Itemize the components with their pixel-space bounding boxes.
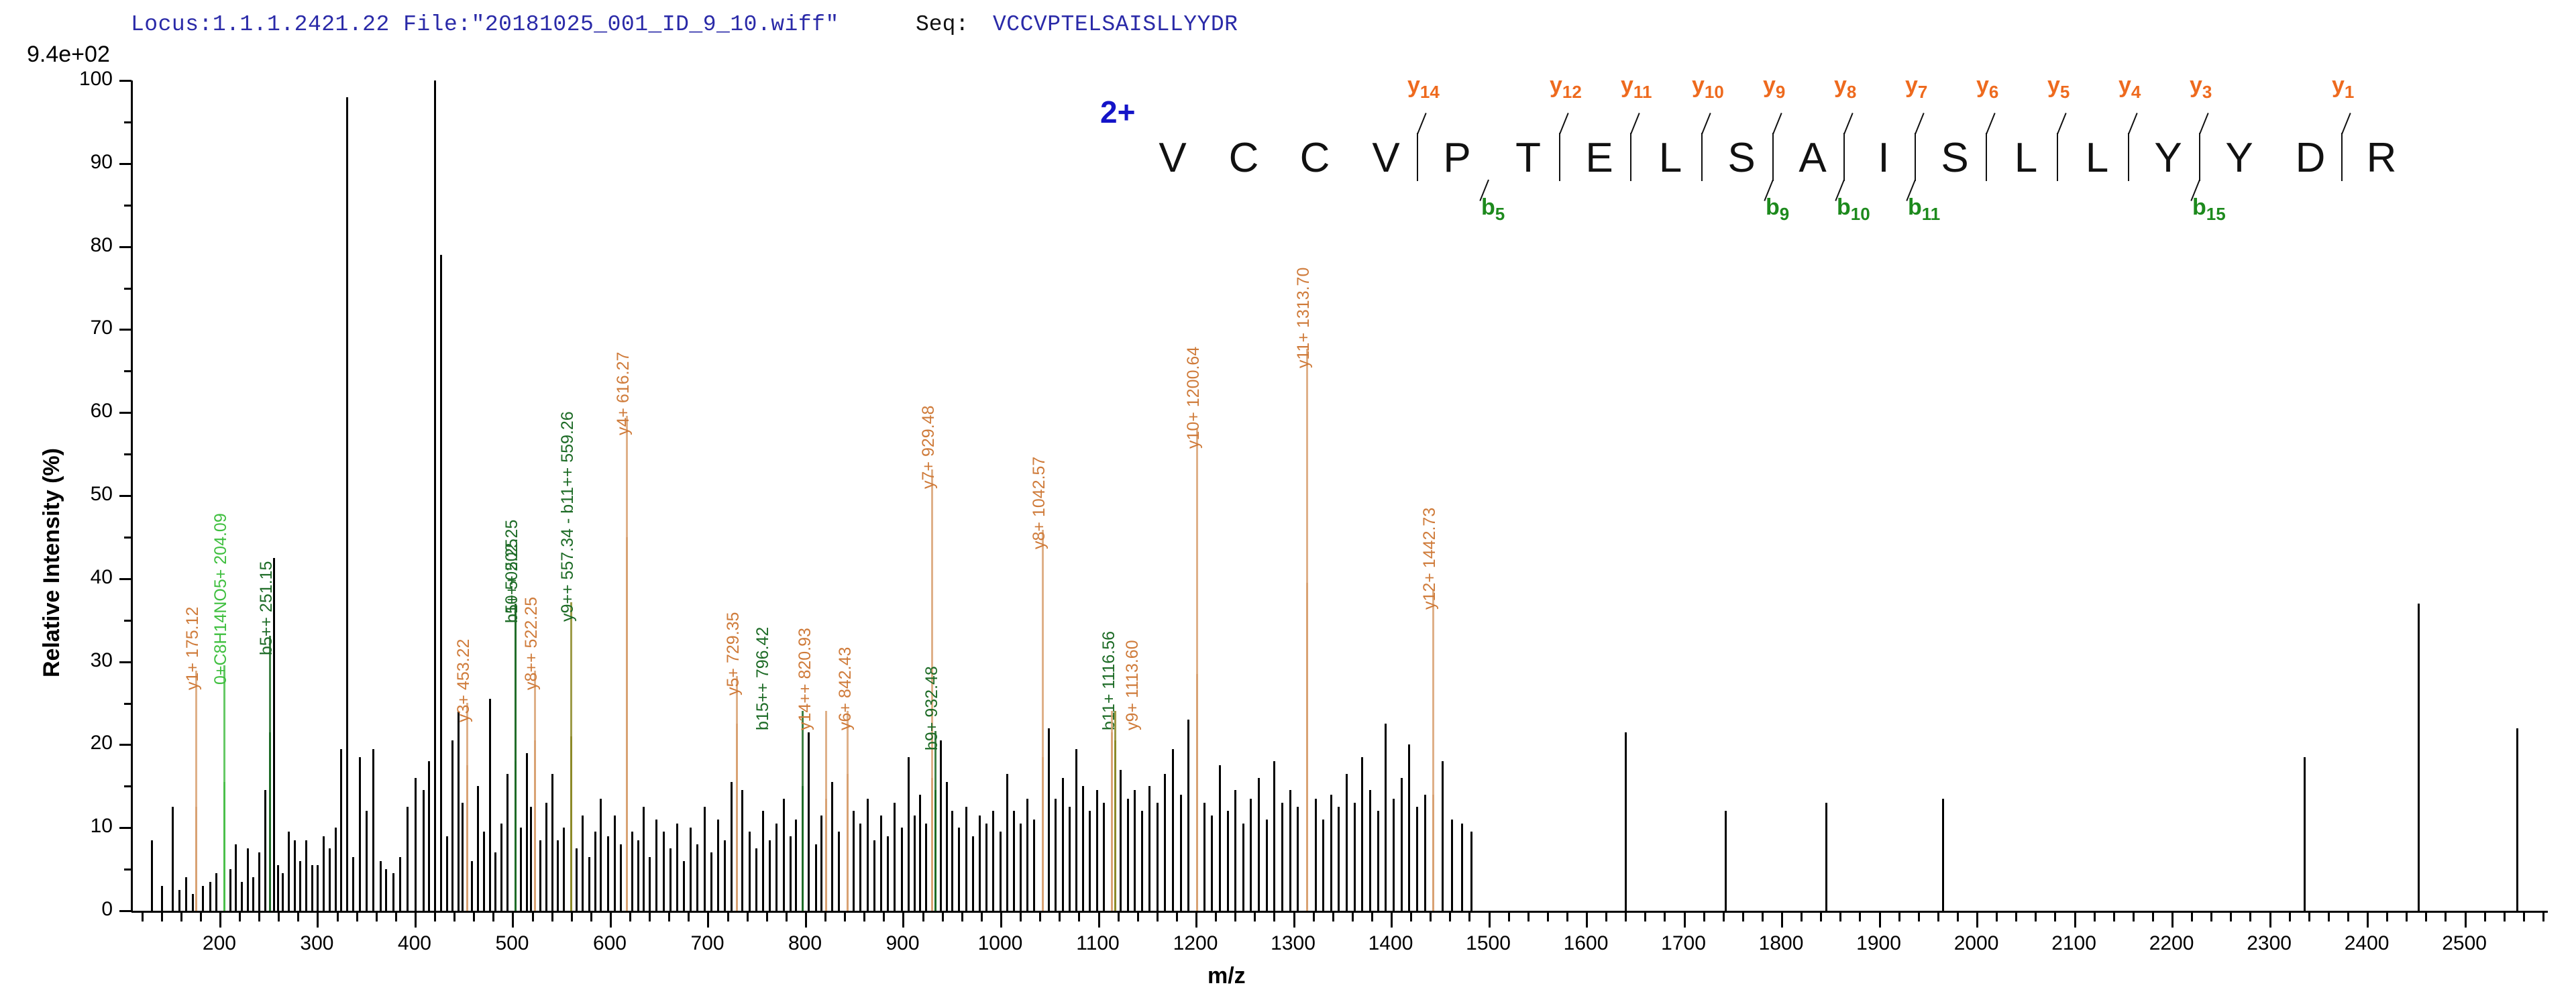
y-ion-label-y4: y4	[2118, 72, 2141, 103]
peak-line	[380, 861, 382, 911]
y-ion-label-y7: y7	[1905, 72, 1927, 103]
peak-line	[1082, 786, 1084, 911]
annotated-peak	[1111, 732, 1113, 911]
peak-line	[600, 799, 602, 911]
y-ion-tick	[1630, 113, 1640, 134]
peak-line	[451, 740, 453, 911]
x-axis-minor-tick	[571, 913, 573, 921]
peak-line	[717, 820, 719, 911]
x-axis-minor-tick	[942, 913, 944, 921]
peak-line	[1020, 824, 1022, 911]
x-axis-minor-tick	[1859, 913, 1861, 921]
peak-line	[1393, 799, 1395, 911]
x-axis-minor-tick	[2210, 913, 2212, 921]
peak-line	[783, 799, 785, 911]
peak-line	[352, 857, 354, 911]
cleavage-bar	[2128, 133, 2129, 181]
peak-line	[914, 816, 916, 911]
cleavage-bar	[1772, 133, 1774, 181]
peak-line	[520, 828, 522, 911]
x-axis-tick-label: 2100	[2034, 932, 2114, 955]
peak-line	[471, 861, 473, 911]
y-ion-tick	[1843, 113, 1854, 134]
x-axis-tick-label: 1900	[1839, 932, 1919, 955]
peptide-fragmentation-diagram: 2+ VCCVPTELSAISLLYYDRy14y12y11y10y9y8y7y…	[1100, 80, 2482, 255]
peak-line	[392, 873, 394, 911]
peak-line	[972, 836, 974, 911]
peak-line	[209, 882, 211, 911]
y-axis-tick	[119, 246, 131, 248]
y-axis-tick-label: 100	[66, 68, 113, 91]
peak-line	[252, 877, 254, 911]
peak-line	[1442, 761, 1444, 911]
y-axis-minor-tick	[124, 703, 131, 705]
peak-line	[1069, 807, 1071, 911]
peak-annotation-label: y10+ 1200.64	[1184, 347, 1203, 449]
x-axis-minor-tick	[1605, 913, 1607, 921]
peak-line	[1062, 778, 1064, 911]
peak-line	[925, 824, 927, 911]
peak-line	[649, 857, 651, 911]
y-ion-tick	[1701, 113, 1711, 134]
y-axis-tick	[119, 412, 131, 414]
x-axis-minor-tick	[532, 913, 534, 921]
x-axis-minor-tick	[786, 913, 788, 921]
x-axis-minor-tick	[1137, 913, 1139, 921]
x-axis-minor-tick	[883, 913, 885, 921]
x-axis-minor-tick	[2094, 913, 2096, 921]
x-axis-minor-tick	[2542, 913, 2544, 921]
x-axis-minor-tick	[1742, 913, 1744, 921]
peak-line	[1385, 724, 1387, 911]
y-axis-tick	[119, 329, 131, 331]
residue-1: V	[1152, 134, 1193, 182]
x-axis-minor-tick	[356, 913, 358, 921]
x-axis-minor-tick	[1644, 913, 1646, 921]
peak-line	[1451, 820, 1453, 911]
cleavage-bar	[2199, 133, 2200, 181]
peak-line	[576, 848, 578, 911]
y-axis-minor-tick	[124, 537, 131, 539]
peak-line	[1234, 790, 1236, 911]
residue-16: Y	[2219, 134, 2259, 182]
x-axis-minor-tick	[2406, 913, 2408, 921]
x-axis-minor-tick	[2445, 913, 2447, 921]
x-axis-minor-tick	[453, 913, 455, 921]
x-axis-minor-tick	[2328, 913, 2330, 921]
x-axis-minor-tick	[1762, 913, 1764, 921]
y-ion-label-y14: y14	[1407, 72, 1440, 103]
x-axis-tick-label: 700	[667, 932, 747, 955]
peak-line	[1013, 811, 1015, 911]
annotation-leader-line	[825, 711, 827, 799]
peak-line	[690, 828, 692, 911]
y-ion-tick	[2057, 113, 2067, 134]
x-axis-tick-label: 1300	[1253, 932, 1334, 955]
residue-9: S	[1721, 134, 1762, 182]
peak-line	[1273, 761, 1275, 911]
x-axis-minor-tick	[1898, 913, 1900, 921]
peak-line	[366, 811, 368, 911]
peak-line	[477, 786, 479, 911]
peak-line	[317, 865, 319, 911]
x-axis-minor-tick	[1157, 913, 1159, 921]
peak-line	[1281, 803, 1283, 911]
peak-line	[526, 753, 528, 911]
peak-annotation-label: b9+ 932.48	[922, 666, 942, 750]
peak-line	[1725, 811, 1727, 911]
x-axis-minor-tick	[1918, 913, 1920, 921]
x-axis-minor-tick	[1078, 913, 1080, 921]
peak-line	[1338, 807, 1340, 911]
x-axis-tick-label: 1700	[1644, 932, 1724, 955]
peak-line	[1164, 774, 1166, 911]
peak-line	[946, 782, 948, 911]
b-ion-label-b15: b15	[2192, 194, 2226, 225]
residue-12: S	[1935, 134, 1975, 182]
x-axis-tick	[1684, 913, 1686, 928]
peak-line	[676, 824, 678, 911]
y-axis-tick	[119, 910, 131, 912]
cleavage-bar	[1630, 133, 1631, 181]
peak-line	[1172, 749, 1174, 911]
x-axis-tick	[902, 913, 904, 928]
annotated-peak	[1306, 583, 1308, 911]
x-axis-minor-tick	[668, 913, 670, 921]
peak-line	[880, 816, 882, 911]
x-axis-minor-tick	[1527, 913, 1529, 921]
peak-line	[588, 857, 590, 911]
peak-line	[359, 757, 361, 911]
y-axis-tick-label: 0	[66, 898, 113, 921]
annotation-leader-line	[195, 671, 197, 807]
peak-line	[951, 811, 953, 911]
peak-line	[908, 757, 910, 911]
x-axis-tick-label: 2500	[2424, 932, 2505, 955]
annotated-peak	[195, 807, 197, 911]
peak-line	[1470, 832, 1472, 911]
annotated-peak	[626, 537, 628, 911]
peak-line	[247, 848, 249, 911]
x-axis-minor-tick	[278, 913, 280, 921]
y-ion-tick	[1772, 113, 1782, 134]
x-axis-minor-tick	[1215, 913, 1217, 921]
peak-line	[1000, 832, 1002, 911]
annotated-peak	[736, 724, 738, 911]
peak-line	[489, 699, 491, 911]
peak-line	[428, 761, 430, 911]
peak-line	[867, 799, 869, 911]
peak-line	[500, 824, 502, 911]
x-axis-minor-tick	[1020, 913, 1022, 921]
peak-line	[434, 80, 436, 911]
x-axis-tick-label: 900	[862, 932, 943, 955]
x-axis-minor-tick	[727, 913, 729, 921]
peak-line	[741, 790, 743, 911]
x-axis-tick	[317, 913, 319, 928]
x-axis-minor-tick	[2308, 913, 2310, 921]
peak-annotation-label: 0+C8H14NO5+ 204.09	[211, 513, 231, 685]
y-axis-tick-label: 70	[66, 317, 113, 339]
y-ion-label-y5: y5	[2047, 72, 2070, 103]
peak-line	[901, 828, 903, 911]
x-axis-tick	[610, 913, 612, 928]
peak-line	[440, 255, 442, 911]
x-axis-tick-label: 1800	[1741, 932, 1821, 955]
peak-line	[815, 844, 817, 911]
x-axis-tick	[2171, 913, 2173, 928]
x-axis-minor-tick	[2133, 913, 2135, 921]
peak-line	[655, 820, 657, 911]
peak-line	[1075, 749, 1077, 911]
peak-line	[483, 832, 485, 911]
y-axis-tick	[119, 495, 131, 497]
peak-line	[1141, 811, 1143, 911]
y-axis-tick-label: 50	[66, 483, 113, 506]
y-ion-tick	[1559, 113, 1569, 134]
peak-line	[1289, 790, 1291, 911]
x-axis-minor-tick	[688, 913, 690, 921]
x-axis-tick-label: 2400	[2326, 932, 2407, 955]
y-axis-minor-tick	[124, 121, 131, 123]
x-axis-tick-label: 200	[179, 932, 260, 955]
x-axis-minor-tick	[1059, 913, 1061, 921]
peak-line	[614, 816, 616, 911]
residue-7: E	[1579, 134, 1619, 182]
x-axis-minor-tick	[961, 913, 963, 921]
peak-line	[458, 712, 460, 911]
cleavage-bar	[1417, 133, 1418, 181]
y-axis-tick	[119, 827, 131, 829]
peak-line	[385, 869, 387, 911]
peak-line	[462, 803, 464, 911]
peak-line	[637, 840, 639, 911]
peak-line	[323, 836, 325, 911]
peak-line	[710, 852, 712, 911]
peak-line	[2418, 604, 2420, 911]
x-axis-minor-tick	[1547, 913, 1549, 921]
y-ion-tick	[2128, 113, 2138, 134]
peak-annotation-label: y8+ 1042.57	[1030, 457, 1049, 549]
peak-line	[1377, 811, 1379, 911]
x-axis-minor-tick	[1430, 913, 1432, 921]
annotated-peak	[802, 786, 804, 911]
b-ion-label-b10: b10	[1837, 194, 1870, 225]
x-axis-tick-label: 1200	[1155, 932, 1236, 955]
annotation-leader-line	[1196, 429, 1198, 674]
peak-annotation-label: y6+ 842.43	[836, 647, 855, 730]
peak-line	[1258, 778, 1260, 911]
x-axis-minor-tick	[180, 913, 182, 921]
y-axis-minor-tick	[124, 620, 131, 622]
cleavage-bar	[1843, 133, 1845, 181]
peak-line	[1203, 803, 1205, 911]
x-axis-minor-tick	[863, 913, 865, 921]
x-axis-tick-label: 800	[765, 932, 845, 955]
x-axis-minor-tick	[1352, 913, 1354, 921]
y-ion-label-y12: y12	[1550, 72, 1582, 103]
annotation-leader-line	[1432, 590, 1434, 795]
peak-line	[299, 861, 301, 911]
residue-8: L	[1650, 134, 1690, 182]
y-ion-tick	[1986, 113, 1996, 134]
x-axis-tick-label: 500	[472, 932, 552, 955]
x-axis-minor-tick	[1313, 913, 1315, 921]
annotation-leader-line	[515, 604, 517, 761]
x-axis-minor-tick	[1468, 913, 1470, 921]
y-ion-tick	[2341, 113, 2351, 134]
x-axis-tick	[1098, 913, 1100, 928]
x-axis-minor-tick	[824, 913, 826, 921]
peak-line	[192, 894, 194, 911]
x-axis-minor-tick	[629, 913, 631, 921]
annotated-peak	[1432, 795, 1434, 911]
annotated-peak	[534, 740, 536, 911]
residue-10: A	[1792, 134, 1833, 182]
x-axis-tick	[2465, 913, 2467, 928]
y-ion-label-y10: y10	[1692, 72, 1724, 103]
peak-line	[1242, 824, 1244, 911]
x-axis-minor-tick	[1937, 913, 1939, 921]
x-axis-minor-tick	[1449, 913, 1451, 921]
peak-line	[1157, 803, 1159, 911]
peak-line	[731, 782, 733, 911]
peak-line	[790, 836, 792, 911]
annotated-peak	[1114, 740, 1116, 911]
peak-line	[277, 865, 279, 911]
x-axis-minor-tick	[1801, 913, 1803, 921]
annotated-peak	[934, 790, 936, 911]
peak-annotation-label: y3+ 453.22	[454, 639, 474, 722]
y-ion-label-y8: y8	[1834, 72, 1856, 103]
peak-line	[775, 824, 777, 911]
x-axis-minor-tick	[1254, 913, 1256, 921]
x-axis-tick	[415, 913, 417, 928]
x-axis-minor-tick	[844, 913, 846, 921]
y-axis-tick-label: 30	[66, 649, 113, 672]
x-axis-minor-tick	[161, 913, 163, 921]
peak-line	[1461, 824, 1463, 911]
x-axis-minor-tick	[1664, 913, 1666, 921]
annotated-peak	[1196, 674, 1198, 911]
peak-line	[724, 840, 726, 911]
x-axis-minor-tick	[395, 913, 397, 921]
x-axis-tick	[2367, 913, 2369, 928]
y-axis-minor-tick	[124, 869, 131, 871]
residue-18: R	[2361, 134, 2402, 182]
x-axis-minor-tick	[297, 913, 299, 921]
cleavage-bar	[1915, 133, 1916, 181]
peak-line	[1033, 820, 1035, 911]
x-axis-minor-tick	[981, 913, 983, 921]
annotated-peak	[1042, 757, 1044, 911]
peak-line	[795, 820, 797, 911]
peak-line	[235, 844, 237, 911]
peak-line	[979, 816, 981, 911]
x-axis-minor-tick	[1996, 913, 1998, 921]
y-axis-minor-tick	[124, 205, 131, 207]
x-axis-tick-label: 1500	[1448, 932, 1529, 955]
x-axis-minor-tick	[1703, 913, 1705, 921]
peak-line	[1219, 765, 1221, 911]
peak-line	[992, 811, 994, 911]
x-axis-tick	[2074, 913, 2076, 928]
annotated-peak	[570, 736, 572, 911]
peak-annotation-label: y14++ 820.93	[796, 628, 815, 730]
x-axis-minor-tick	[492, 913, 494, 921]
peak-line	[769, 840, 771, 911]
y-axis-tick-label: 80	[66, 234, 113, 257]
residue-2: C	[1224, 134, 1264, 182]
annotated-peak	[223, 782, 225, 911]
x-axis-tick-label: 300	[276, 932, 357, 955]
peak-line	[1408, 744, 1410, 911]
peak-line	[1361, 757, 1363, 911]
x-axis-minor-tick	[1839, 913, 1841, 921]
peak-line	[1322, 820, 1324, 911]
peak-line	[965, 807, 967, 911]
x-axis-tick	[1976, 913, 1978, 928]
peak-line	[582, 816, 584, 911]
y-ion-label-y9: y9	[1763, 72, 1785, 103]
peak-line	[494, 852, 496, 911]
y-ion-label-y1: y1	[2332, 72, 2354, 103]
x-axis-tick	[2269, 913, 2271, 928]
peak-line	[919, 795, 921, 911]
peak-annotation-label: y4+ 616.27	[614, 352, 633, 435]
x-axis-tick	[1489, 913, 1491, 928]
peak-line	[1148, 786, 1150, 911]
x-axis-tick-label: 1400	[1350, 932, 1431, 955]
x-axis-tick	[512, 913, 514, 928]
x-axis-tick	[219, 913, 221, 928]
peak-line	[185, 877, 187, 911]
peak-annotation-label: b5++ 251.15	[257, 561, 276, 655]
peak-line	[423, 790, 425, 911]
x-axis-minor-tick	[590, 913, 592, 921]
peak-line	[894, 803, 896, 911]
peak-line	[1266, 820, 1268, 911]
peak-line	[415, 778, 417, 911]
y-axis-tick	[119, 578, 131, 580]
y-axis-title: Relative Intensity (%)	[39, 448, 65, 677]
annotated-peak	[825, 799, 827, 911]
peak-line	[620, 844, 622, 911]
x-axis-tick-label: 600	[570, 932, 650, 955]
peak-line	[399, 857, 401, 911]
peak-line	[820, 816, 822, 911]
x-axis-minor-tick	[922, 913, 924, 921]
y-axis-tick-label: 10	[66, 815, 113, 838]
x-axis-minor-tick	[376, 913, 378, 921]
x-axis-minor-tick	[1957, 913, 1959, 921]
peak-line	[1120, 770, 1122, 911]
x-axis-minor-tick	[434, 913, 436, 921]
x-axis-minor-tick	[766, 913, 768, 921]
peak-line	[631, 832, 633, 911]
x-axis-minor-tick	[2347, 913, 2349, 921]
peak-line	[607, 836, 609, 911]
peak-line	[1315, 799, 1317, 911]
x-axis-minor-tick	[2054, 913, 2056, 921]
y-axis-tick-label: 90	[66, 151, 113, 174]
peak-line	[329, 848, 331, 911]
annotation-leader-line	[1111, 711, 1113, 732]
b-ion-label-b5: b5	[1481, 194, 1505, 225]
peak-line	[1825, 803, 1827, 911]
x-axis-tick-label: 400	[374, 932, 455, 955]
y-axis-tick	[119, 661, 131, 663]
